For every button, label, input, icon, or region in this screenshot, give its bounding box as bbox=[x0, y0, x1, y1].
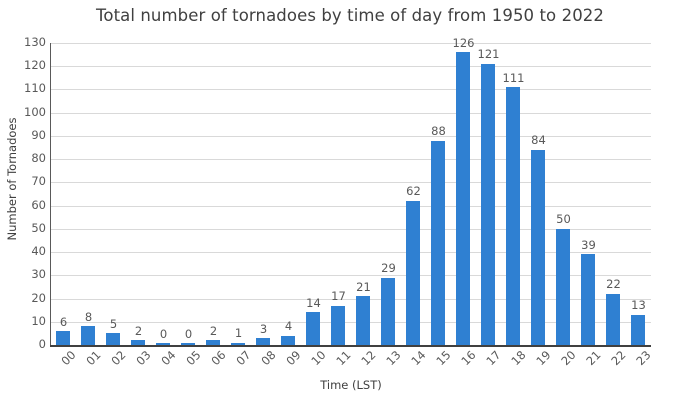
bar-value-label: 13 bbox=[622, 300, 655, 312]
x-axis-tick-label: 07 bbox=[230, 344, 258, 372]
bar[interactable] bbox=[606, 294, 620, 345]
bar-chart: Total number of tornadoes by time of day… bbox=[0, 0, 700, 400]
bar-slot: 2 bbox=[126, 43, 151, 345]
y-axis-tick-label: 30 bbox=[2, 269, 46, 281]
bar-slot: 0 bbox=[151, 43, 176, 345]
x-axis-tick-label: 14 bbox=[405, 344, 433, 372]
bar-slot: 62 bbox=[401, 43, 426, 345]
bar-slot: 111 bbox=[501, 43, 526, 345]
x-axis-tick-label: 15 bbox=[430, 344, 458, 372]
bar-slot: 50 bbox=[551, 43, 576, 345]
y-axis-tick-label: 0 bbox=[2, 339, 46, 351]
x-axis-tick-label: 08 bbox=[255, 344, 283, 372]
bar[interactable] bbox=[281, 336, 295, 345]
bar[interactable] bbox=[356, 296, 370, 345]
bar[interactable] bbox=[406, 201, 420, 345]
x-axis-tick-label: 12 bbox=[355, 344, 383, 372]
bar[interactable] bbox=[256, 338, 270, 345]
bar-slot: 39 bbox=[576, 43, 601, 345]
bar-slot: 84 bbox=[526, 43, 551, 345]
bar[interactable] bbox=[481, 64, 495, 345]
x-axis-tick-label: 02 bbox=[105, 344, 133, 372]
y-axis-tick-label: 20 bbox=[2, 293, 46, 305]
x-axis-tick-label: 11 bbox=[330, 344, 358, 372]
bar[interactable] bbox=[431, 141, 445, 345]
bar-slot: 1 bbox=[226, 43, 251, 345]
bar[interactable] bbox=[331, 306, 345, 345]
bar[interactable] bbox=[56, 331, 70, 345]
x-axis-tick-label: 22 bbox=[605, 344, 633, 372]
x-axis-tick-label: 06 bbox=[205, 344, 233, 372]
bar-slot: 88 bbox=[426, 43, 451, 345]
bar[interactable] bbox=[531, 150, 545, 345]
x-axis-tick-label: 17 bbox=[480, 344, 508, 372]
bar-slot: 6 bbox=[51, 43, 76, 345]
bar-slot: 121 bbox=[476, 43, 501, 345]
y-axis-tick-label: 120 bbox=[2, 60, 46, 72]
x-axis-tick-label: 16 bbox=[455, 344, 483, 372]
bar-slot: 8 bbox=[76, 43, 101, 345]
bar[interactable] bbox=[456, 52, 470, 345]
x-axis-tick-label: 20 bbox=[555, 344, 583, 372]
x-axis-tick-label: 13 bbox=[380, 344, 408, 372]
x-axis-tick-label: 09 bbox=[280, 344, 308, 372]
x-axis-tick-label: 04 bbox=[155, 344, 183, 372]
bar[interactable] bbox=[581, 254, 595, 345]
bar-slot: 2 bbox=[201, 43, 226, 345]
x-axis-tick-label: 23 bbox=[630, 344, 658, 372]
x-axis-tick-label: 10 bbox=[305, 344, 333, 372]
bar-slot: 0 bbox=[176, 43, 201, 345]
bar-slot: 13 bbox=[626, 43, 651, 345]
y-axis-line bbox=[50, 43, 51, 346]
x-axis-tick-label: 01 bbox=[80, 344, 108, 372]
x-axis-tick-label: 18 bbox=[505, 344, 533, 372]
x-axis-tick-label: 00 bbox=[55, 344, 83, 372]
bar[interactable] bbox=[306, 312, 320, 345]
x-axis-tick-label: 03 bbox=[130, 344, 158, 372]
x-axis-tick-label: 05 bbox=[180, 344, 208, 372]
x-axis-tick-label: 21 bbox=[580, 344, 608, 372]
bar[interactable] bbox=[381, 278, 395, 345]
bar[interactable] bbox=[556, 229, 570, 345]
bar[interactable] bbox=[631, 315, 645, 345]
bar[interactable] bbox=[81, 326, 95, 345]
x-axis-title: Time (LST) bbox=[51, 378, 651, 392]
bar-slot: 5 bbox=[101, 43, 126, 345]
bar-slot: 21 bbox=[351, 43, 376, 345]
bar-slot: 3 bbox=[251, 43, 276, 345]
plot-area: 6852002134141721296288126121111845039221… bbox=[51, 43, 651, 345]
bar[interactable] bbox=[506, 87, 520, 345]
bar[interactable] bbox=[106, 333, 120, 345]
bar-slot: 17 bbox=[326, 43, 351, 345]
y-axis-title: Number of Tornadoes bbox=[5, 104, 19, 254]
y-axis-tick-label: 110 bbox=[2, 83, 46, 95]
y-axis-tick-label: 10 bbox=[2, 316, 46, 328]
y-axis-tick-label: 130 bbox=[2, 37, 46, 49]
x-axis-tick-label: 19 bbox=[530, 344, 558, 372]
bar-slot: 126 bbox=[451, 43, 476, 345]
chart-title: Total number of tornadoes by time of day… bbox=[0, 6, 700, 25]
